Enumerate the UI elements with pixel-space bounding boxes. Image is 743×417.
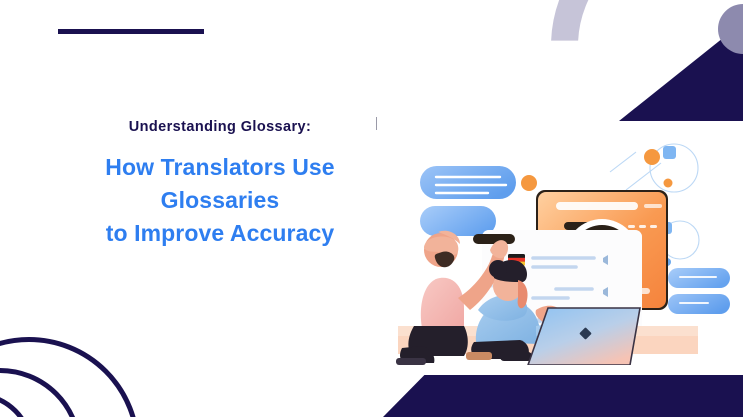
headline-line-1: How Translators Use	[60, 151, 380, 184]
banner-eyebrow: Understanding Glossary:	[60, 118, 380, 137]
navy-angled-band-decoration	[383, 375, 743, 417]
laptop-gradient-lid	[528, 308, 640, 365]
orange-dot-connector	[521, 175, 537, 191]
headline-line-3: to Improve Accuracy	[60, 217, 380, 250]
blue-square-node	[663, 146, 676, 159]
banner-canvas: Understanding Glossary: How Translators …	[0, 0, 743, 417]
ai-translation-illustration: AI	[378, 130, 730, 365]
orange-dot	[644, 149, 660, 165]
chat-bubble-small	[420, 206, 496, 236]
headline-line-2: Glossaries	[60, 184, 380, 217]
banner-text-block: Understanding Glossary: How Translators …	[60, 118, 380, 250]
orange-dot-small	[664, 179, 673, 188]
navy-rule-decoration	[58, 29, 204, 34]
banner-headline: How Translators Use Glossaries to Improv…	[60, 151, 380, 250]
